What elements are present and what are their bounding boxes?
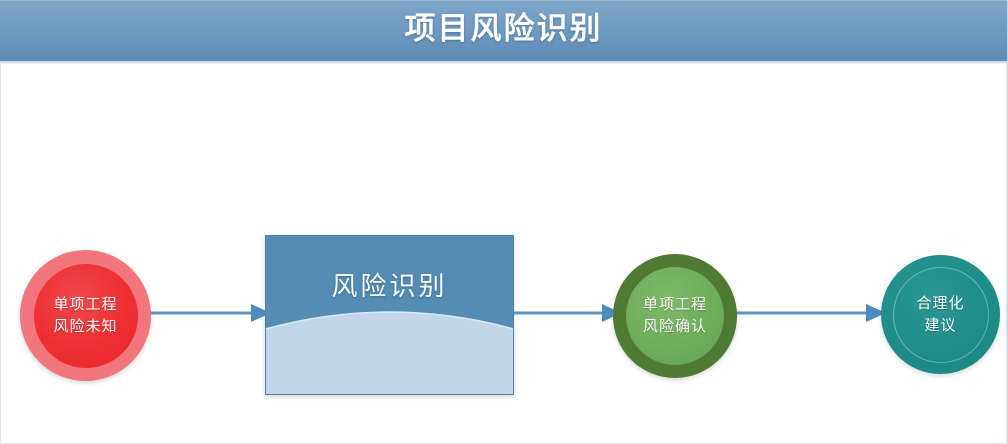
node-risk-identification-label: 风险识别 — [331, 266, 447, 303]
rectangle-arc-fill — [266, 236, 513, 394]
node-risk-confirmed[interactable]: 单项工程 风险确认 — [613, 254, 737, 378]
node-rational-advice[interactable]: 合理化 建议 — [881, 255, 1000, 374]
node-rational-advice-inner: 合理化 建议 — [893, 267, 989, 363]
node-risk-unknown-inner: 单项工程 风险未知 — [34, 264, 138, 368]
node-risk-confirmed-label: 单项工程 风险确认 — [643, 294, 707, 338]
node-risk-confirmed-inner: 单项工程 风险确认 — [626, 267, 724, 365]
node-risk-unknown-label: 单项工程 风险未知 — [53, 294, 117, 338]
slide-canvas: 项目风险识别 单项工程 风险未知 — [0, 0, 1007, 444]
node-risk-unknown[interactable]: 单项工程 风险未知 — [20, 250, 151, 381]
arrow-confirmed-to-advice — [734, 302, 886, 324]
node-risk-identification[interactable]: 风险识别 — [265, 235, 514, 395]
slide-header-band: 项目风险识别 — [0, 0, 1007, 61]
arrow-identification-to-confirmed — [511, 302, 621, 324]
diagram-canvas: 单项工程 风险未知 风险识别 单项工程 风险确认 合理化 建议 — [0, 64, 1007, 444]
node-rational-advice-label: 合理化 建议 — [916, 293, 964, 337]
arrow-risk-unknown-to-identification — [147, 302, 271, 324]
page-title: 项目风险识别 — [0, 7, 1007, 51]
